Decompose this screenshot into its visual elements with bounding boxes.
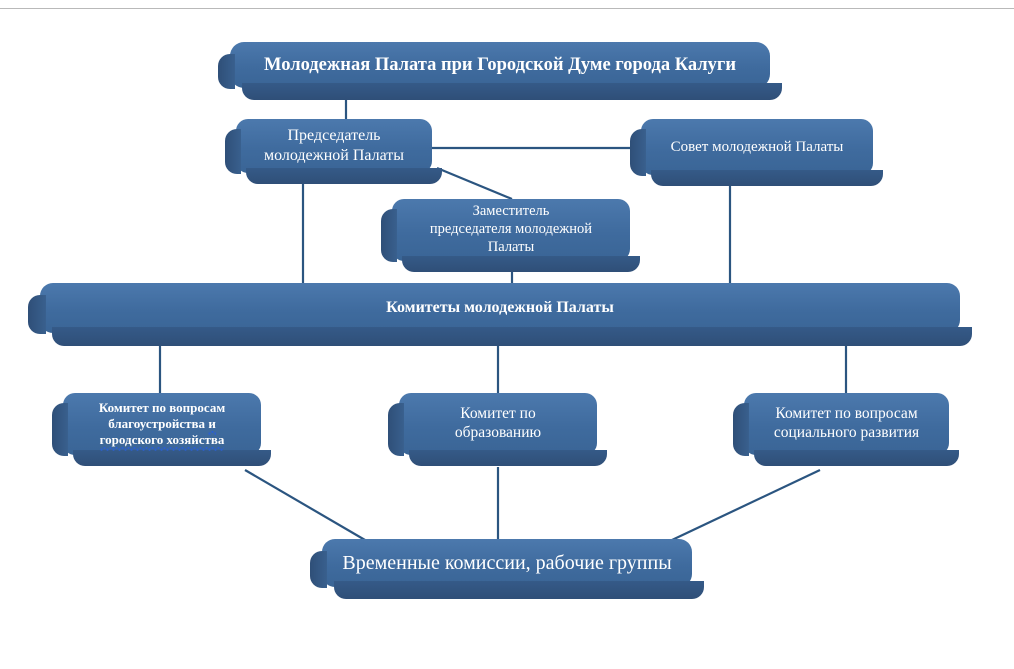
node-committee-social-development-label: Комитет по вопросам социального развития xyxy=(764,405,929,443)
node-committee-landscaping-line-2-plain: благоустройства xyxy=(108,416,208,431)
node-council[interactable]: Совет молодежной Палаты xyxy=(641,119,873,175)
connector-committee-1-to-temporary xyxy=(245,470,365,540)
node-committee-education-label: Комитет по образованию xyxy=(445,405,551,443)
node-committee-education-line-1: Комитет по xyxy=(460,405,535,422)
org-chart-canvas: Молодежная Палата при Городской Думе гор… xyxy=(0,0,1014,669)
node-council-label: Совет молодежной Палаты xyxy=(661,138,854,156)
node-chairman[interactable]: Председатель молодежной Палаты xyxy=(236,119,432,173)
node-chairman-line-2: молодежной Палаты xyxy=(264,147,404,164)
node-committee-landscaping[interactable]: Комитет по вопросам благоустройства и го… xyxy=(63,393,261,455)
node-deputy-label: Заместитель председателя молодежной Пала… xyxy=(420,203,602,256)
node-chairman-line-1: Председатель xyxy=(288,127,381,144)
node-deputy-chairman[interactable]: Заместитель председателя молодежной Пала… xyxy=(392,199,630,261)
node-committee-social-development-line-1: Комитет по вопросам xyxy=(775,405,917,422)
node-committee-social-development[interactable]: Комитет по вопросам социального развития xyxy=(744,393,949,455)
connector-committee-3-to-temporary xyxy=(672,470,820,540)
node-committee-education[interactable]: Комитет по образованию xyxy=(399,393,597,455)
node-committees-label: Комитеты молодежной Палаты xyxy=(376,298,624,318)
node-youth-chamber-root[interactable]: Молодежная Палата при Городской Думе гор… xyxy=(230,42,770,88)
node-committee-landscaping-line-1: Комитет по вопросам xyxy=(99,400,225,415)
node-committee-education-line-2: образованию xyxy=(455,424,541,441)
node-root-label: Молодежная Палата при Городской Думе гор… xyxy=(254,54,746,77)
node-deputy-line-1: Заместитель xyxy=(473,203,550,219)
connector-chair-to-deputy xyxy=(437,168,512,199)
node-temporary-commissions-label: Временные комиссии, рабочие группы xyxy=(332,551,681,575)
page-top-rule xyxy=(0,8,1014,9)
spellcheck-underlined-text-2: городского хозяйства xyxy=(100,432,225,451)
node-committee-landscaping-label: Комитет по вопросам благоустройства и го… xyxy=(89,400,235,448)
node-deputy-line-3: Палаты xyxy=(488,239,534,255)
node-temporary-commissions[interactable]: Временные комиссии, рабочие группы xyxy=(322,539,692,587)
node-deputy-line-2: председателя молодежной xyxy=(430,221,592,237)
node-chairman-label: Председатель молодежной Палаты xyxy=(254,126,414,165)
node-committees-bar[interactable]: Комитеты молодежной Палаты xyxy=(40,283,960,333)
node-committee-social-development-line-2: социального развития xyxy=(774,424,919,441)
